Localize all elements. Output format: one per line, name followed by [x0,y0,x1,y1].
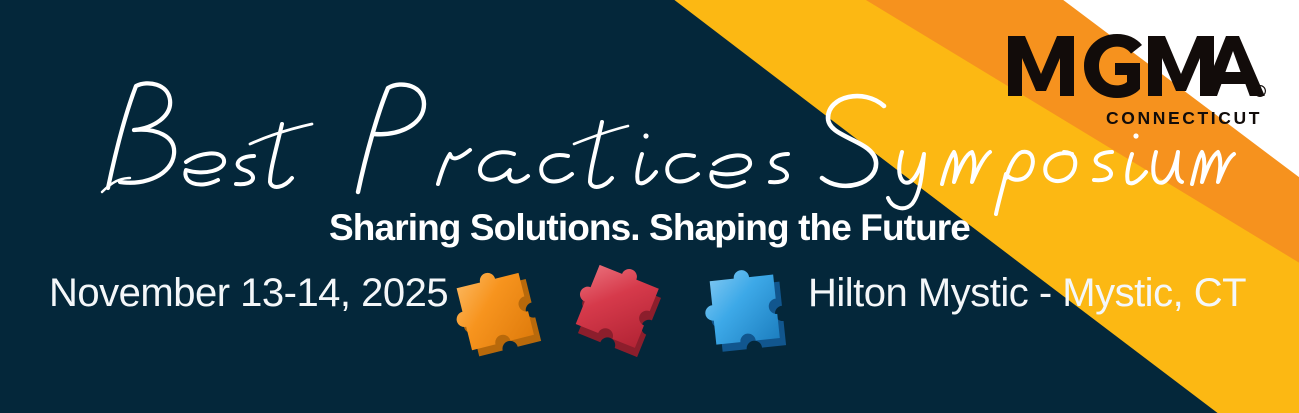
svg-text:R: R [1257,89,1262,96]
event-date: November 13-14, 2025 [49,271,448,316]
puzzle-piece-blue [684,253,805,374]
puzzle-pieces-decoration [432,250,802,380]
event-banner: R CONNECTICUT Best Practices Symposium [0,0,1299,413]
mgma-wordmark-icon: R [1006,28,1268,104]
tagline: Sharing Solutions. Shaping the Future [0,207,1299,249]
mgma-connecticut-logo: R CONNECTICUT [1006,28,1276,138]
event-venue: Hilton Mystic - Mystic, CT [808,271,1246,316]
puzzle-piece-orange [428,248,561,381]
puzzle-piece-red [543,237,686,380]
logo-chapter-label: CONNECTICUT [1106,108,1262,129]
